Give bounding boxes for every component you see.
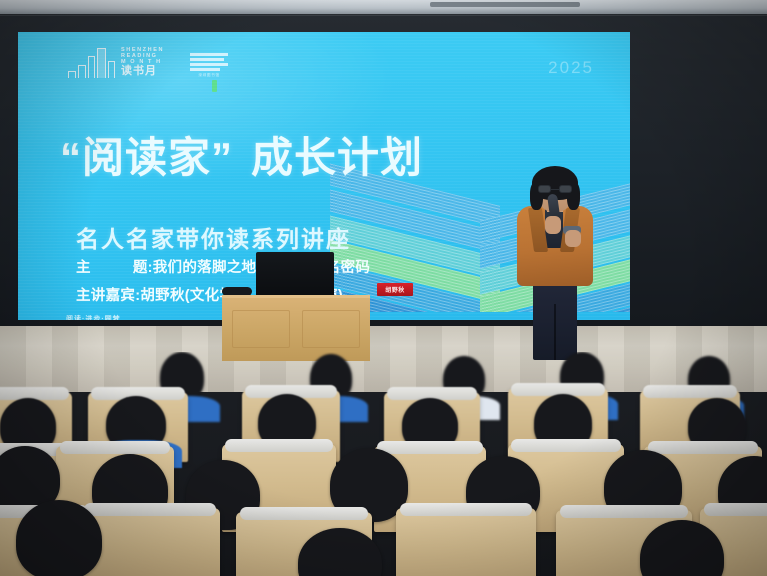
meta-label: 主 xyxy=(76,260,91,276)
placard-text: 胡野秋 xyxy=(385,285,405,294)
bar-chart-icon xyxy=(68,48,115,78)
shenzhen-library-logo: 深圳图书馆 xyxy=(190,53,228,78)
lectern-panel-left xyxy=(232,310,290,348)
audience-area xyxy=(0,352,767,576)
meta-value: 题:我们的落脚之地--深圳的地名密码 xyxy=(133,260,370,276)
lecture-hall-photo: SHENZHEN READING M O N T H 读书月 深圳图书馆 202… xyxy=(0,0,767,576)
glasses-icon xyxy=(538,185,572,193)
audience-head xyxy=(16,500,102,576)
shenzhen-reading-month-logo: SHENZHEN READING M O N T H 读书月 xyxy=(68,48,164,78)
speaker-trousers xyxy=(533,276,577,360)
green-marker xyxy=(212,80,217,92)
name-placard: 胡野秋 xyxy=(377,283,413,296)
speaker-hand-left xyxy=(545,216,561,234)
speaker-figure xyxy=(505,168,605,360)
headline-quoted: “阅读家” xyxy=(60,134,233,181)
logo-cn: 读书月 xyxy=(121,66,164,78)
slide-subhead: 名人名家带你读系列讲座 xyxy=(76,220,351,254)
slide-year: 2025 xyxy=(548,58,594,78)
auditorium-seat xyxy=(396,508,536,576)
library-caption: 深圳图书馆 xyxy=(190,73,228,78)
speaker-hand-right xyxy=(565,230,581,247)
slide-logos: SHENZHEN READING M O N T H 读书月 深圳图书馆 xyxy=(68,48,228,78)
slogan-cn: 阅读·进步·圆梦 xyxy=(66,314,182,320)
headline-rest: 成长计划 xyxy=(251,134,423,181)
slide-slogan: 阅读·进步·圆梦 Reading·Progress·Fulfillment xyxy=(66,314,182,320)
lectern-panel-right xyxy=(302,310,360,348)
book-stack-icon xyxy=(190,53,228,71)
rail-slot xyxy=(430,2,580,7)
meta-label: 主讲嘉宾: xyxy=(76,288,140,304)
desk-monitor xyxy=(256,252,334,297)
